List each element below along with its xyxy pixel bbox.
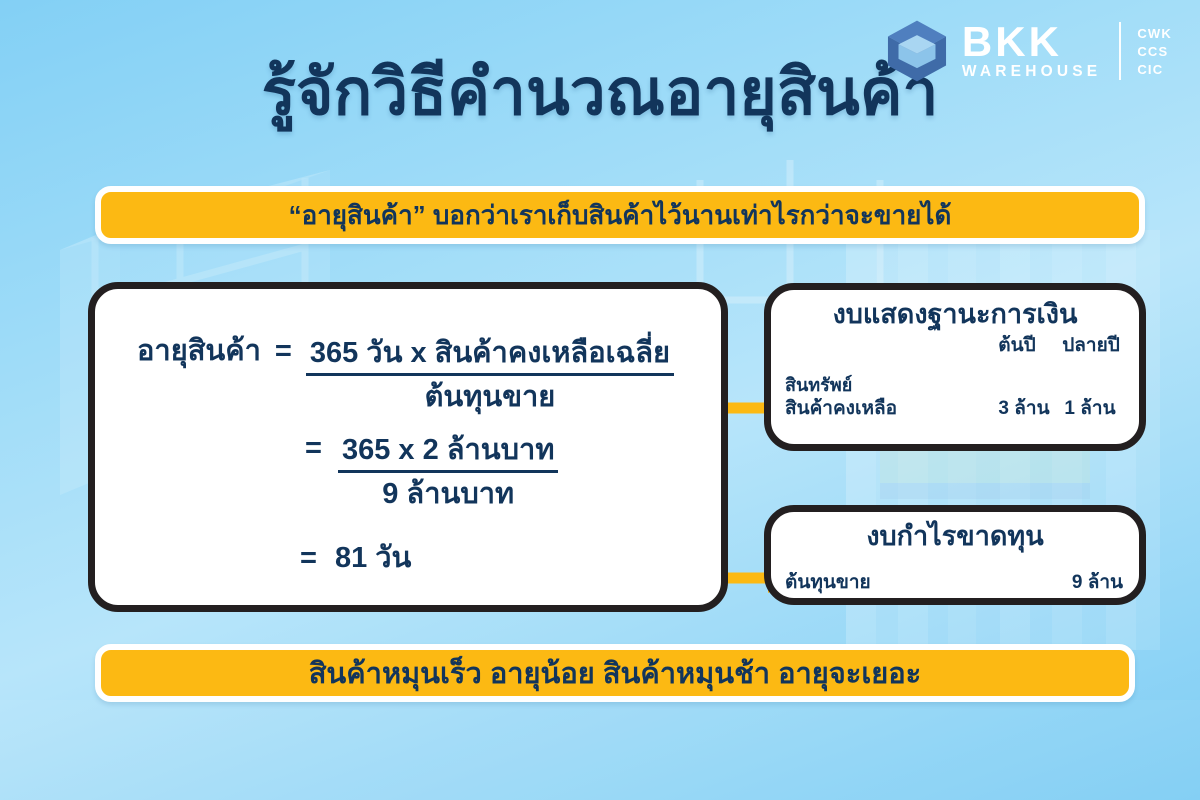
brand-name: BKK xyxy=(962,23,1101,62)
balance-sheet-group-label: สินทรัพย์ xyxy=(785,374,1123,397)
formula-equals-3: = xyxy=(300,544,317,573)
formula-card: อายุสินค้า = 365 วัน x สินค้าคงเหลือเฉลี… xyxy=(88,282,728,612)
formula-numerator-1: 365 วัน x สินค้าคงเหลือเฉลี่ย xyxy=(306,337,674,376)
brand-code-2: CIC xyxy=(1137,63,1172,76)
balance-sheet-title: งบแสดงฐานะการเงิน xyxy=(771,290,1139,329)
brand-code-1: CCS xyxy=(1137,45,1172,58)
balance-sheet-column-headers: ต้นปี ปลายปี xyxy=(771,330,1139,360)
brand-sub: WAREHOUSE xyxy=(962,64,1101,80)
open-box-cube-icon xyxy=(884,18,950,84)
definition-banner: “อายุสินค้า” บอกว่าเราเก็บสินค้าไว้นานเท… xyxy=(95,186,1145,244)
balance-sheet-rows: สินทรัพย์ สินค้าคงเหลือ 3 ล้าน 1 ล้าน xyxy=(771,374,1139,420)
formula-result-value: 81 วัน xyxy=(335,544,411,573)
balance-sheet-row-inventory: สินค้าคงเหลือ 3 ล้าน 1 ล้าน xyxy=(785,397,1123,421)
balance-sheet-value-0: 3 ล้าน xyxy=(991,397,1057,421)
formula-denominator-1: ต้นทุนขาย xyxy=(306,376,674,417)
summary-banner: สินค้าหมุนเร็ว อายุน้อย สินค้าหมุนช้า อา… xyxy=(95,644,1135,702)
balance-sheet-card: งบแสดงฐานะการเงิน ต้นปี ปลายปี สินทรัพย์… xyxy=(764,283,1146,451)
formula-line-2: = 365 x 2 ล้านบาท 9 ล้านบาท xyxy=(305,434,558,514)
balance-sheet-column-0: ต้นปี xyxy=(987,330,1047,360)
formula-denominator-2: 9 ล้านบาท xyxy=(338,473,559,514)
brand-logo: BKK WAREHOUSE CWK CCS CIC xyxy=(884,18,1172,84)
formula-fraction-2: 365 x 2 ล้านบาท 9 ล้านบาท xyxy=(338,434,559,514)
formula-equals-2: = xyxy=(305,434,322,463)
income-statement-title: งบกำไรขาดทุน xyxy=(771,512,1139,551)
income-statement-value: 9 ล้าน xyxy=(1072,567,1123,597)
formula-line-3: = 81 วัน xyxy=(300,544,411,573)
formula-equals-1: = xyxy=(275,337,292,366)
formula-numerator-2: 365 x 2 ล้านบาท xyxy=(338,434,559,473)
income-statement-row-cogs: ต้นทุนขาย 9 ล้าน xyxy=(771,567,1139,597)
formula-body: อายุสินค้า = 365 วัน x สินค้าคงเหลือเฉลี… xyxy=(95,289,721,605)
brand-code-0: CWK xyxy=(1137,27,1172,40)
balance-sheet-column-1: ปลายปี xyxy=(1061,330,1121,360)
balance-sheet-value-1: 1 ล้าน xyxy=(1057,397,1123,421)
logo-divider xyxy=(1119,22,1121,80)
income-statement-card: งบกำไรขาดทุน ต้นทุนขาย 9 ล้าน xyxy=(764,505,1146,605)
brand-codes: CWK CCS CIC xyxy=(1137,27,1172,76)
balance-sheet-row-label: สินค้าคงเหลือ xyxy=(785,397,991,421)
formula-line-1: อายุสินค้า = 365 วัน x สินค้าคงเหลือเฉลี… xyxy=(137,337,674,417)
income-statement-row-label: ต้นทุนขาย xyxy=(785,567,871,597)
formula-fraction-1: 365 วัน x สินค้าคงเหลือเฉลี่ย ต้นทุนขาย xyxy=(306,337,674,417)
formula-subject-label: อายุสินค้า xyxy=(137,337,261,366)
